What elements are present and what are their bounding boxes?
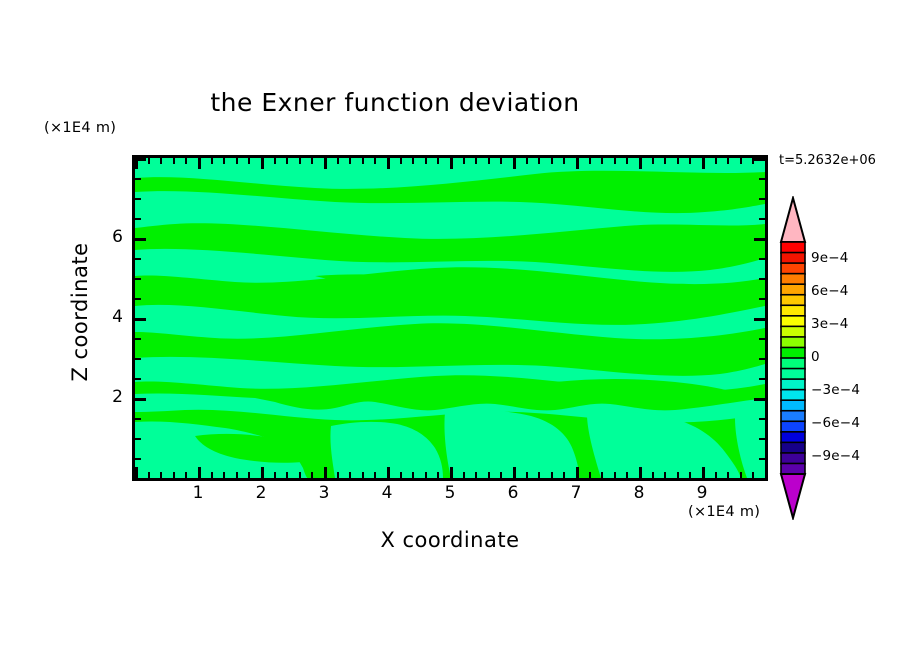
x-tick-top [765, 158, 768, 169]
x-tick-top [173, 158, 175, 164]
x-tick-top [727, 158, 729, 164]
x-tick-top [374, 158, 376, 164]
x-tick-top [324, 158, 327, 169]
colorbar-band [781, 326, 805, 337]
y-tick-right [759, 218, 765, 220]
x-tick-label: 8 [624, 483, 654, 503]
x-tick-top [274, 158, 276, 164]
x-tick-bottom [223, 472, 225, 478]
contour-plot-area [135, 158, 765, 478]
y-tick-right [759, 418, 765, 420]
y-tick-right [754, 398, 765, 401]
x-tick-top [412, 158, 414, 164]
y-tick-right [754, 318, 765, 321]
colorbar-band [781, 432, 805, 443]
y-tick-left [135, 298, 141, 300]
x-tick-top [198, 158, 201, 169]
x-tick-bottom [702, 467, 705, 478]
colorbar-band [781, 263, 805, 274]
x-tick-top [286, 158, 288, 164]
x-tick-bottom [299, 472, 301, 478]
x-tick-top [311, 158, 313, 164]
colorbar-band [781, 400, 805, 411]
x-tick-bottom [740, 472, 742, 478]
colorbar-band [781, 463, 805, 474]
x-tick-top [563, 158, 565, 164]
y-tick-label: 6 [93, 227, 123, 247]
x-tick-top [576, 158, 579, 169]
x-tick-top [740, 158, 742, 164]
x-tick-top [702, 158, 705, 169]
y-tick-right [759, 378, 765, 380]
x-tick-bottom [475, 472, 477, 478]
x-tick-bottom [400, 472, 402, 478]
x-tick-bottom [173, 472, 175, 478]
x-tick-top [589, 158, 591, 164]
x-tick-top [475, 158, 477, 164]
x-tick-bottom [576, 467, 579, 478]
x-tick-bottom [589, 472, 591, 478]
x-tick-bottom [261, 467, 264, 478]
x-tick-top [236, 158, 238, 164]
x-tick-top [362, 158, 364, 164]
y-tick-label: 4 [93, 307, 123, 327]
x-tick-top [337, 158, 339, 164]
x-tick-top [211, 158, 213, 164]
y-tick-left [135, 178, 141, 180]
y-axis-unit-label: (×1E4 m) [44, 120, 116, 136]
x-tick-bottom [374, 472, 376, 478]
y-tick-left [135, 218, 141, 220]
x-tick-top [626, 158, 628, 164]
x-tick-bottom [551, 472, 553, 478]
x-tick-bottom [450, 467, 453, 478]
x-tick-label: 9 [687, 483, 717, 503]
x-tick-bottom [311, 472, 313, 478]
y-tick-right [759, 298, 765, 300]
y-axis-title: Z coordinate [68, 212, 92, 412]
x-tick-bottom [148, 472, 150, 478]
x-tick-bottom [677, 472, 679, 478]
contour-field [135, 158, 765, 478]
x-tick-bottom [538, 472, 540, 478]
x-tick-top [551, 158, 553, 164]
x-tick-top [425, 158, 427, 164]
x-tick-bottom [198, 467, 201, 478]
y-tick-right [754, 478, 765, 481]
x-tick-top [677, 158, 679, 164]
colorbar-swatches [775, 196, 811, 520]
x-tick-bottom [437, 472, 439, 478]
colorbar-band [781, 390, 805, 401]
colorbar-band [781, 358, 805, 369]
colorbar-band [781, 379, 805, 390]
x-tick-bottom [337, 472, 339, 478]
x-tick-top [160, 158, 162, 164]
x-tick-top [185, 158, 187, 164]
x-tick-bottom [362, 472, 364, 478]
x-tick-bottom [286, 472, 288, 478]
y-tick-right [754, 158, 765, 161]
x-tick-bottom [765, 467, 768, 478]
plot-canvas: the Exner function deviation (×1E4 m) (×… [0, 0, 904, 654]
y-tick-right [759, 458, 765, 460]
x-tick-bottom [626, 472, 628, 478]
y-tick-right [759, 278, 765, 280]
y-tick-left [135, 458, 141, 460]
y-tick-left [135, 198, 141, 200]
x-tick-bottom [652, 472, 654, 478]
x-tick-top [715, 158, 717, 164]
x-tick-top [387, 158, 390, 169]
colorbar-band [781, 442, 805, 453]
x-tick-top [500, 158, 502, 164]
y-tick-left [135, 278, 141, 280]
x-tick-top [639, 158, 642, 169]
x-tick-bottom [324, 467, 327, 478]
x-tick-label: 4 [372, 483, 402, 503]
colorbar-band [781, 316, 805, 327]
y-tick-left [135, 338, 141, 340]
x-tick-bottom [248, 472, 250, 478]
colorbar-band [781, 411, 805, 422]
colorbar [775, 196, 811, 520]
y-tick-right [759, 438, 765, 440]
x-tick-bottom [601, 472, 603, 478]
x-tick-bottom [500, 472, 502, 478]
x-tick-top [299, 158, 301, 164]
x-tick-top [664, 158, 666, 164]
colorbar-band [781, 274, 805, 285]
x-tick-top [349, 158, 351, 164]
x-tick-top [652, 158, 654, 164]
x-tick-label: 6 [498, 483, 528, 503]
colorbar-band [781, 369, 805, 380]
y-tick-left [135, 158, 146, 161]
x-tick-bottom [563, 472, 565, 478]
colorbar-band [781, 347, 805, 358]
colorbar-band [781, 337, 805, 348]
y-tick-right [759, 338, 765, 340]
x-tick-bottom [211, 472, 213, 478]
x-tick-bottom [715, 472, 717, 478]
y-tick-left [135, 258, 141, 260]
y-tick-left [135, 398, 146, 401]
colorbar-band [781, 242, 805, 253]
x-tick-top [488, 158, 490, 164]
x-tick-bottom [689, 472, 691, 478]
colorbar-tick-label: 9e−4 [811, 250, 849, 266]
x-tick-top [614, 158, 616, 164]
x-tick-bottom [160, 472, 162, 478]
y-tick-right [759, 178, 765, 180]
x-tick-bottom [463, 472, 465, 478]
y-tick-right [759, 358, 765, 360]
x-tick-bottom [349, 472, 351, 478]
y-tick-left [135, 438, 141, 440]
y-tick-right [759, 258, 765, 260]
x-tick-top [400, 158, 402, 164]
x-tick-bottom [513, 467, 516, 478]
x-tick-top [450, 158, 453, 169]
y-tick-left [135, 478, 146, 481]
x-tick-top [689, 158, 691, 164]
x-tick-bottom [236, 472, 238, 478]
y-tick-left [135, 378, 141, 380]
colorbar-tick-label: 6e−4 [811, 283, 849, 299]
x-axis-unit-label: (×1E4 m) [688, 504, 760, 520]
y-tick-label: 2 [93, 387, 123, 407]
timestamp-annotation: t=5.2632e+06 [779, 153, 876, 168]
x-tick-bottom [135, 467, 138, 478]
x-tick-top [601, 158, 603, 164]
colorbar-tick-label: −6e−4 [811, 415, 860, 431]
colorbar-band [781, 295, 805, 306]
x-tick-bottom [274, 472, 276, 478]
x-tick-bottom [664, 472, 666, 478]
x-tick-top [148, 158, 150, 164]
x-tick-top [463, 158, 465, 164]
x-axis-title: X coordinate [235, 528, 665, 552]
x-tick-bottom [727, 472, 729, 478]
x-tick-label: 5 [435, 483, 465, 503]
y-tick-left [135, 238, 146, 241]
x-tick-top [261, 158, 264, 169]
x-tick-label: 1 [183, 483, 213, 503]
colorbar-band [781, 453, 805, 464]
colorbar-tick-label: 0 [811, 349, 820, 365]
x-tick-bottom [425, 472, 427, 478]
colorbar-over-arrow [781, 198, 805, 242]
x-tick-bottom [185, 472, 187, 478]
x-tick-top [526, 158, 528, 164]
y-tick-right [754, 238, 765, 241]
x-tick-label: 3 [309, 483, 339, 503]
page-title: the Exner function deviation [0, 88, 790, 117]
colorbar-band [781, 421, 805, 432]
x-tick-top [437, 158, 439, 164]
x-tick-top [538, 158, 540, 164]
colorbar-tick-label: 3e−4 [811, 316, 849, 332]
x-tick-top [223, 158, 225, 164]
y-tick-right [759, 198, 765, 200]
x-tick-top [248, 158, 250, 164]
y-tick-left [135, 318, 146, 321]
x-tick-label: 7 [561, 483, 591, 503]
x-tick-bottom [488, 472, 490, 478]
x-tick-bottom [387, 467, 390, 478]
y-tick-left [135, 358, 141, 360]
colorbar-under-arrow [781, 474, 805, 518]
colorbar-tick-label: −9e−4 [811, 448, 860, 464]
y-tick-left [135, 418, 141, 420]
colorbar-band [781, 253, 805, 264]
x-tick-bottom [526, 472, 528, 478]
x-tick-top [513, 158, 516, 169]
x-tick-bottom [639, 467, 642, 478]
colorbar-band [781, 284, 805, 295]
colorbar-band [781, 305, 805, 316]
x-tick-bottom [412, 472, 414, 478]
colorbar-tick-label: −3e−4 [811, 382, 860, 398]
x-tick-label: 2 [246, 483, 276, 503]
x-tick-bottom [614, 472, 616, 478]
